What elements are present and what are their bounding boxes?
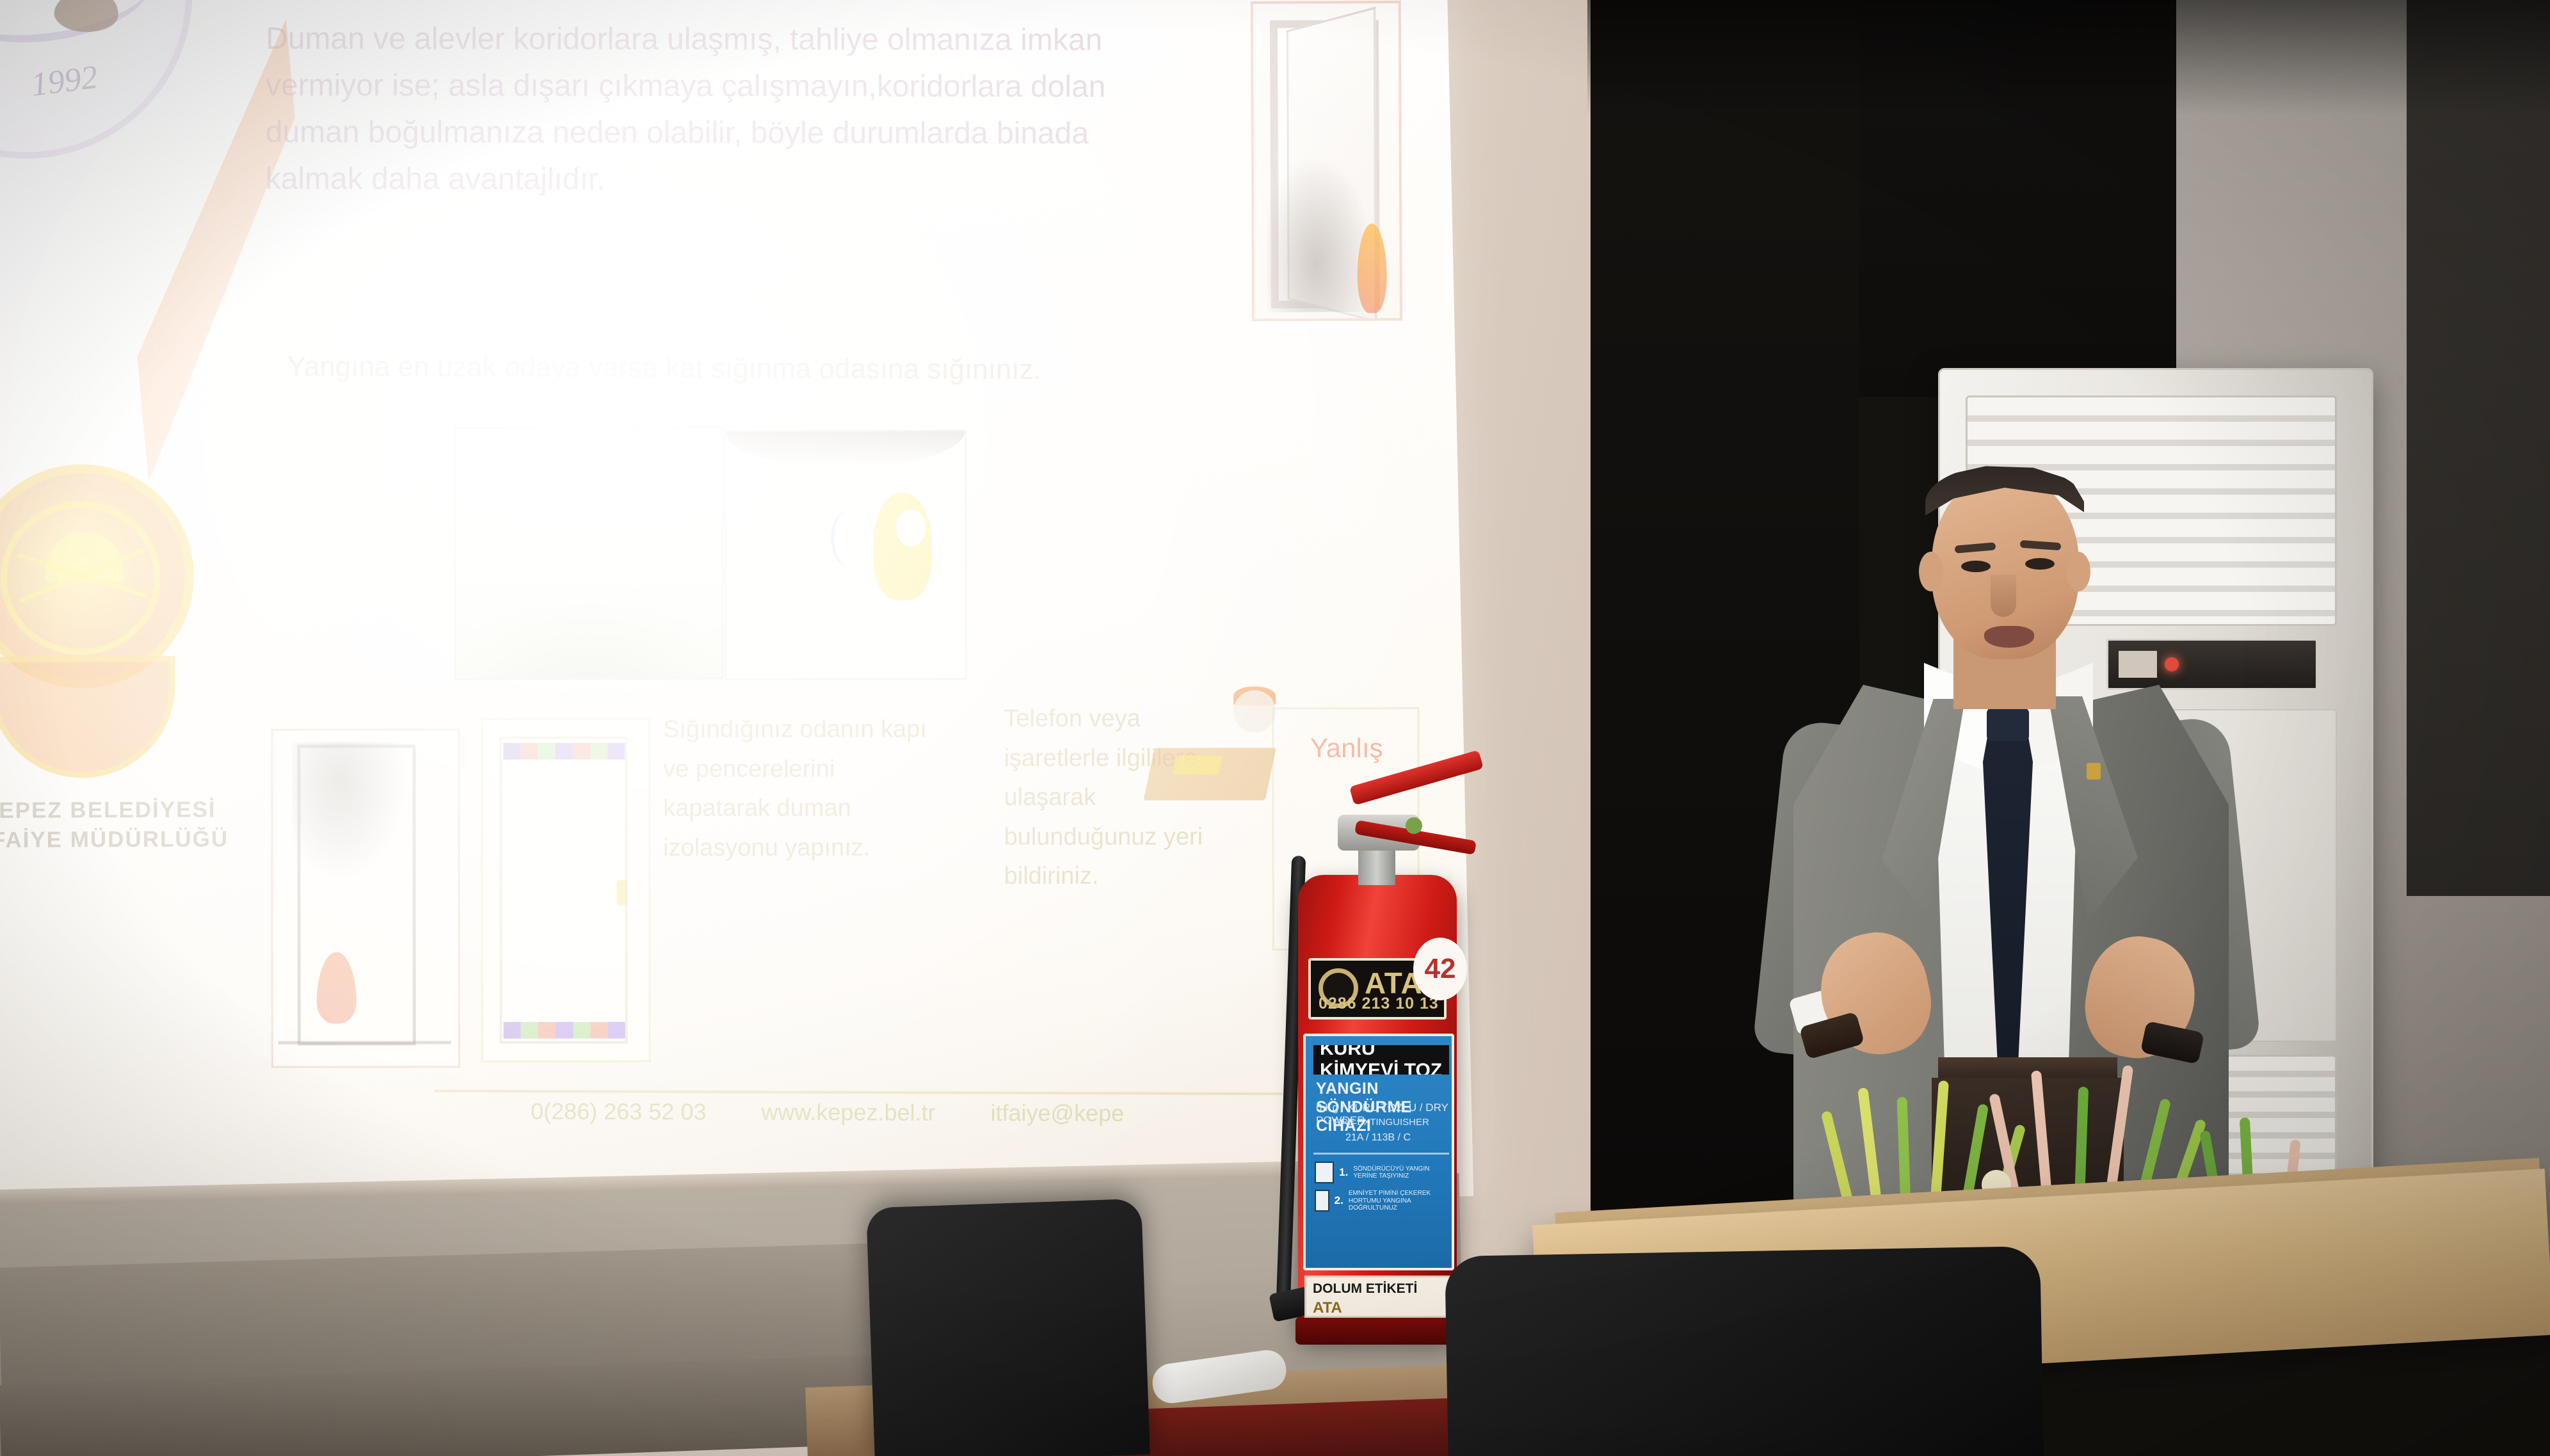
instruction-row: 1. SÖNDÜRÜCÜYÜ YANGIN YERİNE TAŞIYINIZ (1315, 1162, 1450, 1183)
slide-photo-panel-left (454, 426, 723, 680)
instruction-1-number: 1. (1339, 1166, 1348, 1179)
label-sub3: FIRE EXTINGUISHER (1333, 1117, 1429, 1128)
refill-label-brand: ATA (1313, 1299, 1342, 1317)
safety-pin-icon[interactable] (1406, 817, 1422, 834)
presentation-slide: 1992 ...dan Çıkmayı Başaramamışsanız ! .… (0, 0, 1473, 1229)
burning-door-illustration (271, 728, 460, 1068)
door-tape-top (503, 743, 625, 760)
kepez-municipality-logo-icon: 1992 (0, 0, 212, 179)
instruction-2-text: EMNİYET PİMİNİ ÇEKEREK HORTUMU YANGINA D… (1349, 1190, 1450, 1212)
door-tape-bottom (504, 1022, 625, 1039)
footer-email: itfaiye@kepe (990, 1100, 1124, 1127)
extinguisher-brand-phone: 0286 213 10 13 (1319, 995, 1439, 1013)
refill-label-title: DOLUM ETİKETİ (1313, 1281, 1417, 1297)
instruction-row: 2. EMNİYET PİMİNİ ÇEKEREK HORTUMU YANGIN… (1315, 1190, 1450, 1212)
org-line-2: İTFAİYE MÜDÜRLÜĞÜ (0, 826, 229, 852)
projection-screen: 1992 ...dan Çıkmayı Başaramamışsanız ! .… (0, 0, 1473, 1229)
extinguisher-info-label: KURU KİMYEVİ TOZ YANGIN SÖNDÜRME CİHAZI … (1303, 1034, 1454, 1270)
instruction-1-text: SÖNDÜRÜCÜYÜ YANGIN YERİNE TAŞIYINIZ (1353, 1165, 1450, 1180)
logo-year: 1992 (29, 58, 100, 104)
slide-column-text-one: Sığındığınız odanın kapı ve pencerelerin… (663, 710, 938, 868)
usage-instructions: 1. SÖNDÜRÜCÜYÜ YANGIN YERİNE TAŞIYINIZ 2… (1315, 1162, 1450, 1219)
foreground-chair-left (866, 1199, 1150, 1456)
room-wall-right-dark (2407, 0, 2550, 896)
slide-second-line: Yangına en uzak odaya,varsa kat sığınma … (287, 347, 1215, 390)
itfaiye-emblem-icon: KEPEZ BELEDİYESİ İTFAİYE MÜDÜRLÜĞÜ (0, 463, 246, 849)
foreground-chair-right (1445, 1246, 2044, 1456)
footer-website: www.kepez.bel.tr (761, 1099, 935, 1126)
wrong-label: Yanlış (1310, 733, 1383, 764)
organisation-name: KEPEZ BELEDİYESİ İTFAİYE MÜDÜRLÜĞÜ (0, 795, 246, 854)
instruction-2-number: 2. (1335, 1194, 1343, 1207)
fire-extinguisher: ATA 0286 213 10 13 42 KURU KİMYEVİ TOZ Y… (1274, 778, 1485, 1354)
label-sub4: 21A / 113B / C (1345, 1132, 1411, 1144)
person-at-desk-phone-illustration (1143, 686, 1290, 827)
org-line-1: KEPEZ BELEDİYESİ (0, 797, 216, 824)
presentation-photo-scene: 1992 ...dan Çıkmayı Başaramamışsanız ! .… (0, 0, 2550, 1456)
lapel-pin-icon (2087, 763, 2101, 780)
slide-paragraph: Duman ve alevler koridorlara ulaşmış, ta… (266, 16, 1175, 204)
instruction-pictogram-icon (1315, 1162, 1334, 1183)
inspection-tag: 42 (1413, 938, 1467, 1000)
footer-phone: 0(286) 263 52 03 (531, 1098, 706, 1126)
slide-photo-panel-right (725, 430, 967, 680)
ceiling-shadow (1587, 0, 2550, 115)
person-figure-icon (1251, 74, 1260, 234)
instruction-pictogram-icon (1315, 1190, 1329, 1212)
door-with-smoke-illustration (1251, 1, 1402, 321)
sealed-door-illustration (481, 718, 650, 1062)
extinguisher-refill-label: DOLUM ETİKETİ ATA (1304, 1276, 1453, 1318)
door-knob-icon (616, 880, 627, 906)
label-header: KURU KİMYEVİ TOZ (1313, 1045, 1449, 1075)
